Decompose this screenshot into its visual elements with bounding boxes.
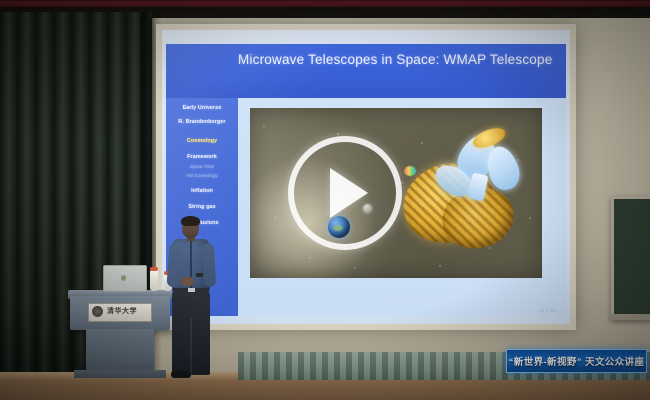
sidebar-item-conclusions[interactable]: Conclusions (166, 219, 238, 227)
university-seal-icon (92, 306, 103, 317)
wmap-satellite (398, 126, 538, 264)
wmap-photo (250, 108, 542, 278)
speaker-belt-buckle (188, 288, 195, 292)
slide-title: Microwave Telescopes in Space: WMAP Tele… (238, 51, 560, 68)
presentation-slide: Microwave Telescopes in Space: WMAP Tele… (166, 44, 566, 316)
speaker-hands (181, 277, 194, 286)
sidebar-item-inflation[interactable]: Inflation (166, 187, 238, 195)
video-frame: Microwave Telescopes in Space: WMAP Tele… (0, 0, 650, 400)
speaker-shoe (171, 371, 191, 378)
sidebar-item-space-time[interactable]: Space-Time (166, 164, 238, 170)
sidebar-course-label: Early Universe (166, 104, 238, 112)
chalk-tray (608, 314, 650, 320)
chalkboard (611, 196, 650, 320)
lens-flare-prism (404, 166, 416, 176)
sidebar-section-label: Cosmology (166, 137, 238, 145)
play-button[interactable] (288, 136, 402, 250)
slide-body: 11 / 68 (238, 98, 566, 316)
sidebar-item-string-gas[interactable]: String gas (166, 203, 238, 211)
speaker-watch (196, 273, 203, 277)
slide-page-number: 11 / 68 (539, 308, 557, 313)
speaker-hair (181, 216, 200, 226)
speaker-arm-right (202, 243, 216, 288)
laptop-logo-icon (121, 275, 126, 281)
water-bottle (150, 270, 158, 291)
podium-plaque-text: 清华大学 (107, 306, 147, 317)
broadcast-banner: “新世界-新视野” 天文公众讲座 (506, 349, 647, 373)
speaker-leg-split (190, 318, 192, 375)
podium-stem (86, 329, 154, 375)
play-triangle-icon (330, 168, 368, 218)
sidebar-author-label: R. Brandenberger (166, 118, 238, 126)
sidebar-item-hot-cosmology[interactable]: Hot Cosmology (166, 173, 238, 179)
podium-base (74, 370, 166, 378)
sidebar-item-framework[interactable]: Framework (166, 153, 238, 161)
broadcast-banner-text: “新世界-新视野” 天文公众讲座 (509, 354, 645, 368)
water-bottle-cap (150, 267, 158, 271)
